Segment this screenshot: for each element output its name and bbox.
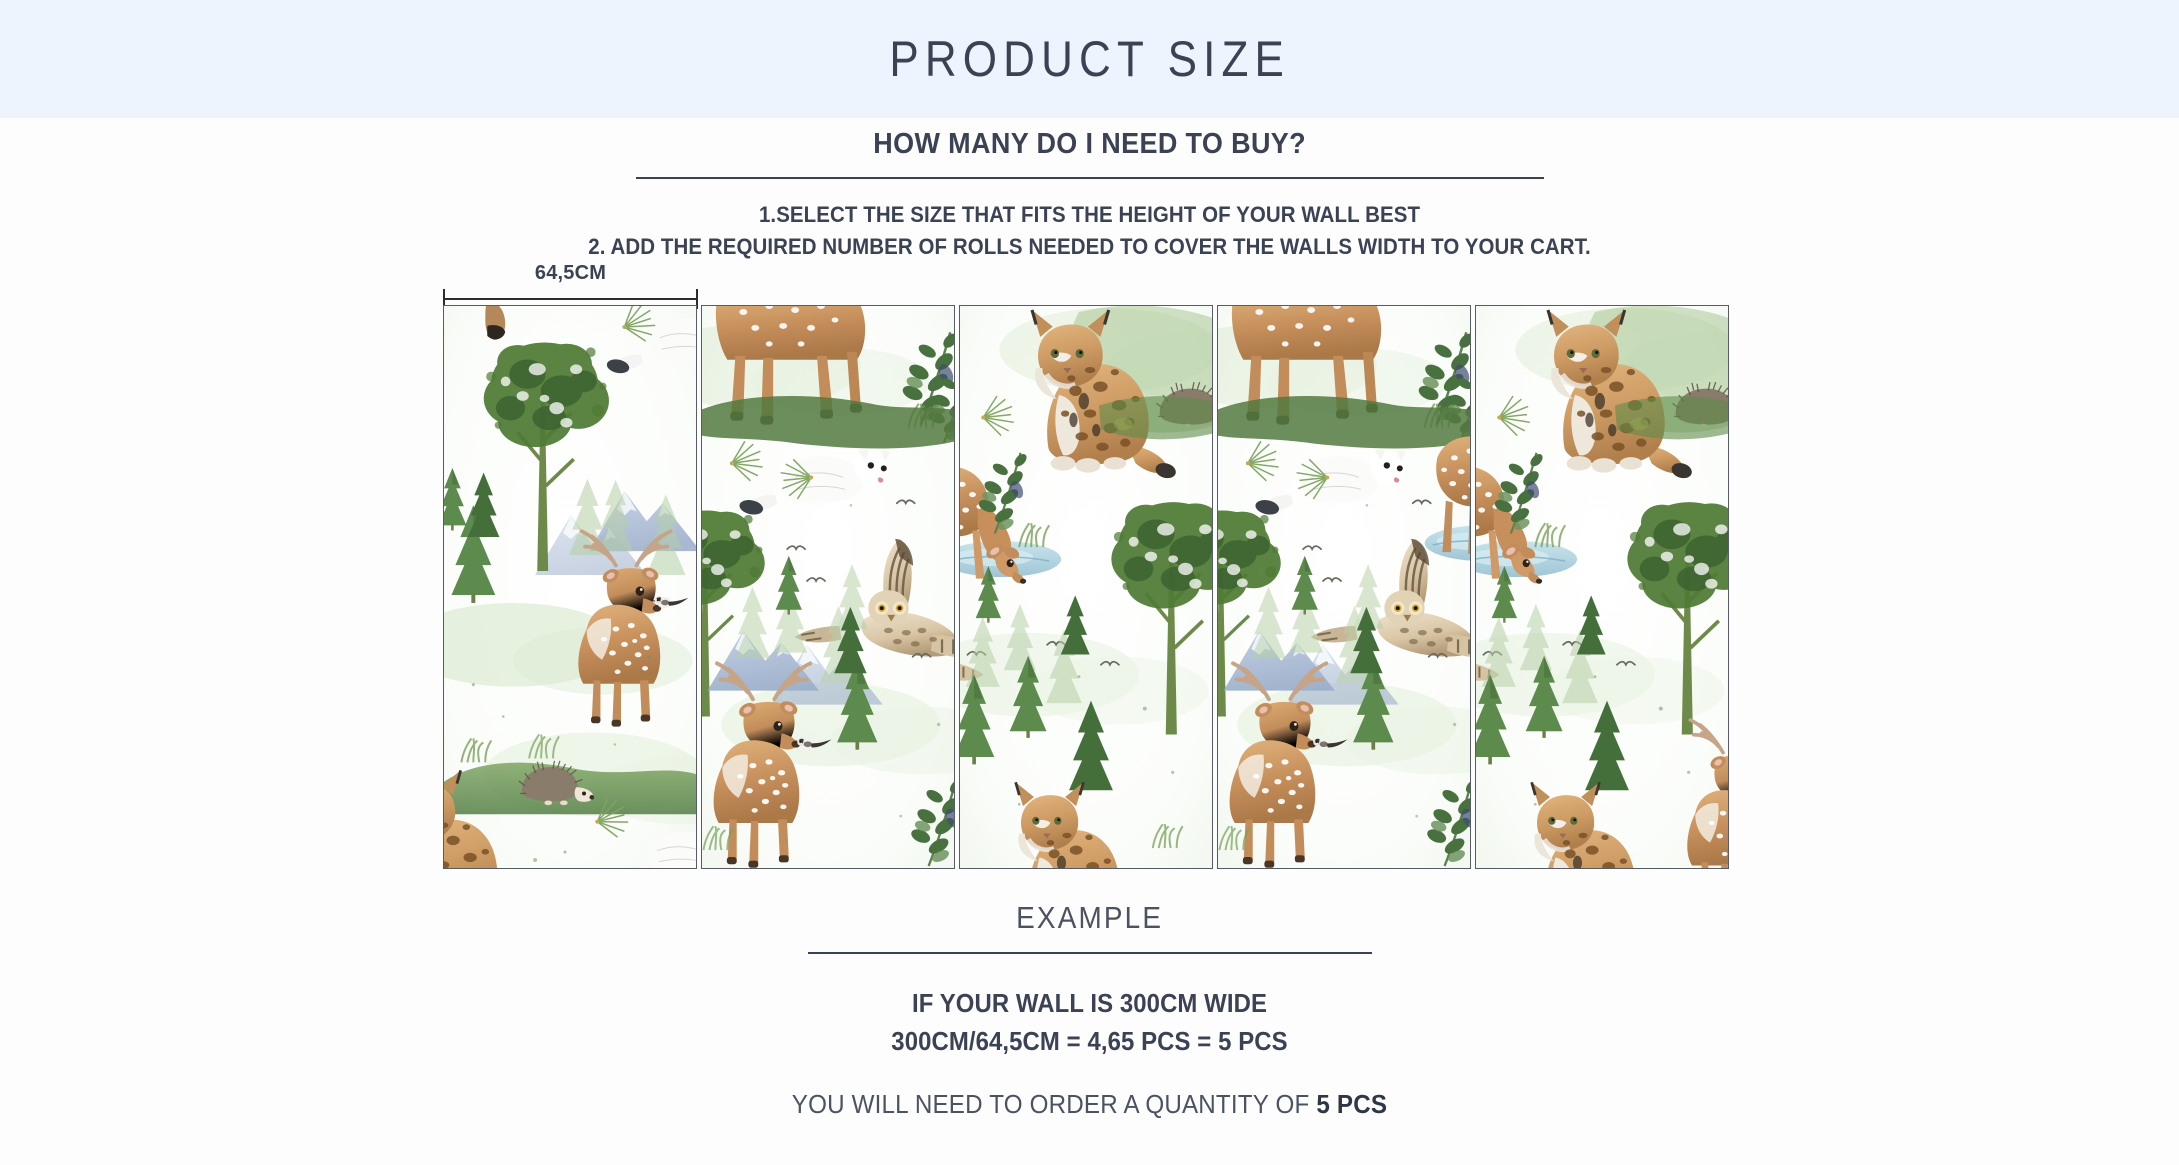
- example-order-value: 5 PCS: [1316, 1089, 1387, 1119]
- instructions-subhead: HOW MANY DO I NEED TO BUY?: [873, 128, 1306, 161]
- roll-width-label: 64,5CM: [443, 262, 698, 285]
- instructions-divider: [636, 177, 1544, 179]
- wallpaper-roll-1[interactable]: [443, 305, 697, 869]
- page-title: PRODUCT SIZE: [889, 30, 1290, 88]
- example-lines: IF YOUR WALL IS 300CM WIDE 300CM/64,5CM …: [0, 984, 2179, 1120]
- wallpaper-roll-2[interactable]: [701, 305, 955, 869]
- example-calculation: 300CM/64,5CM = 4,65 PCS = 5 PCS: [87, 1022, 2092, 1060]
- example-divider: [808, 952, 1372, 954]
- roll-3-pattern: [960, 306, 1212, 868]
- dimension-line: [443, 298, 698, 300]
- roll-2-pattern: [702, 306, 954, 868]
- example-title: EXAMPLE: [1016, 900, 1163, 936]
- instruction-step-1: 1.SELECT THE SIZE THAT FITS THE HEIGHT O…: [76, 199, 2102, 231]
- wallpaper-roll-4[interactable]: [1217, 305, 1471, 869]
- roll-1-pattern: [444, 306, 696, 868]
- example-section: EXAMPLE IF YOUR WALL IS 300CM WIDE 300CM…: [0, 900, 2179, 1120]
- instructions-section: HOW MANY DO I NEED TO BUY? 1.SELECT THE …: [0, 128, 2179, 263]
- roll-5-pattern: [1476, 306, 1728, 868]
- instruction-step-2: 2. ADD THE REQUIRED NUMBER OF ROLLS NEED…: [76, 231, 2102, 263]
- wallpaper-roll-5[interactable]: [1475, 305, 1729, 869]
- instructions-steps: 1.SELECT THE SIZE THAT FITS THE HEIGHT O…: [0, 199, 2179, 263]
- example-order-quantity: YOU WILL NEED TO ORDER A QUANTITY OF 5 P…: [76, 1089, 2102, 1120]
- example-wall-width: IF YOUR WALL IS 300CM WIDE: [87, 984, 2092, 1022]
- wallpaper-roll-strip: [443, 305, 1733, 869]
- example-order-prefix: YOU WILL NEED TO ORDER A QUANTITY OF: [792, 1089, 1317, 1119]
- header-band: PRODUCT SIZE: [0, 0, 2179, 118]
- hoof-crop-top: [485, 306, 505, 340]
- roll-width-dimension: 64,5CM: [443, 262, 698, 306]
- product-size-page: PRODUCT SIZE HOW MANY DO I NEED TO BUY? …: [0, 0, 2179, 1165]
- wallpaper-roll-3[interactable]: [959, 305, 1213, 869]
- roll-4-pattern: [1218, 306, 1470, 868]
